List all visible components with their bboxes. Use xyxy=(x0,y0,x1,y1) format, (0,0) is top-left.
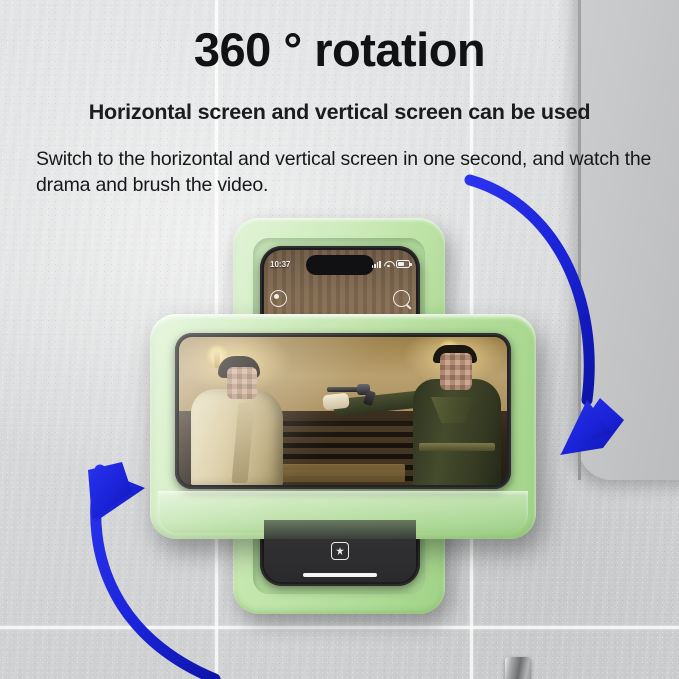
scene-figure-left xyxy=(191,357,283,485)
cellular-bars-icon xyxy=(372,260,381,268)
landscape-holder-frame xyxy=(150,314,536,539)
scene-figure-right xyxy=(397,345,503,485)
revolver-prop xyxy=(327,381,383,403)
left-figure-pixelated-face xyxy=(227,367,257,399)
left-figure-head xyxy=(218,356,260,401)
video-playback-screen[interactable] xyxy=(179,337,507,485)
scene-floor-stripe xyxy=(281,464,406,482)
phone-landscape xyxy=(175,333,511,489)
phone-holder-product: 10:37 xyxy=(138,218,548,630)
product-image-stage: 360 ° rotation Horizontal screen and ver… xyxy=(0,0,679,679)
camera-icon[interactable] xyxy=(270,290,287,307)
status-bar-indicators xyxy=(372,260,410,268)
page-subtitle: Horizontal screen and vertical screen ca… xyxy=(0,100,679,125)
page-description: Switch to the horizontal and vertical sc… xyxy=(36,146,654,199)
app-badge-icon[interactable] xyxy=(331,542,349,560)
right-figure-trench-coat xyxy=(413,379,501,485)
battery-icon xyxy=(396,260,410,268)
right-figure-pixelated-face xyxy=(440,353,472,390)
page-title: 360 ° rotation xyxy=(0,26,679,73)
search-icon[interactable] xyxy=(393,290,410,307)
phone-status-bar: 10:37 xyxy=(270,257,410,271)
right-figure-head xyxy=(433,345,477,393)
wifi-icon xyxy=(384,261,393,268)
status-bar-time: 10:37 xyxy=(270,260,290,269)
right-figure-belt xyxy=(419,443,495,451)
home-indicator[interactable] xyxy=(303,573,377,577)
metal-fixture xyxy=(505,657,531,679)
